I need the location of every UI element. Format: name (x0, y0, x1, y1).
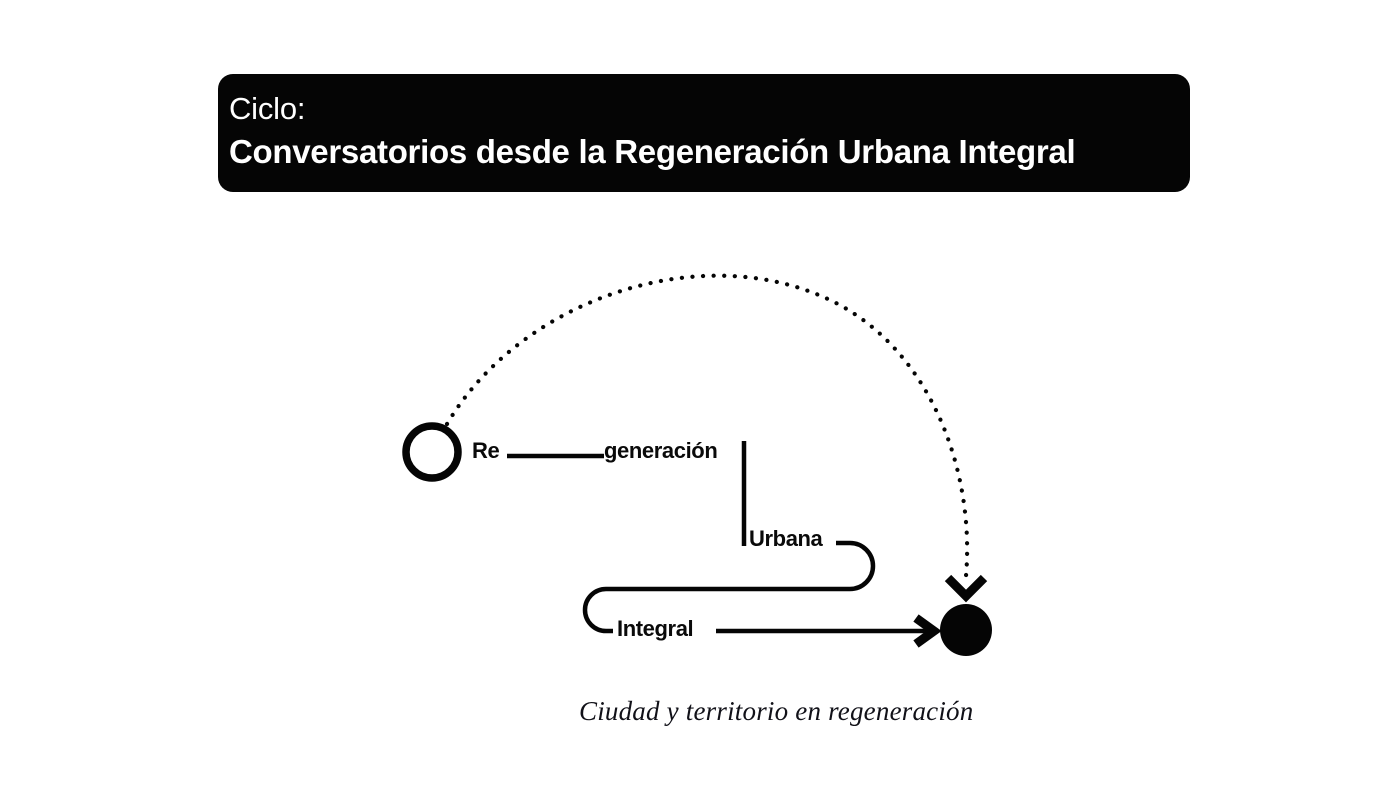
diagram-label-integral: Integral (617, 616, 693, 642)
cycle-return-arc (447, 276, 967, 576)
start-node-circle (406, 426, 458, 478)
diagram-label-generacion: generación (604, 438, 717, 464)
diagram-caption: Ciudad y territorio en regeneración (579, 696, 973, 727)
cycle-diagram: filled circle --> (0, 0, 1400, 800)
arc-arrowhead-icon (948, 578, 984, 596)
diagram-label-urbana: Urbana (749, 526, 822, 552)
end-node-circle (940, 604, 992, 656)
diagram-label-re: Re (472, 438, 499, 464)
